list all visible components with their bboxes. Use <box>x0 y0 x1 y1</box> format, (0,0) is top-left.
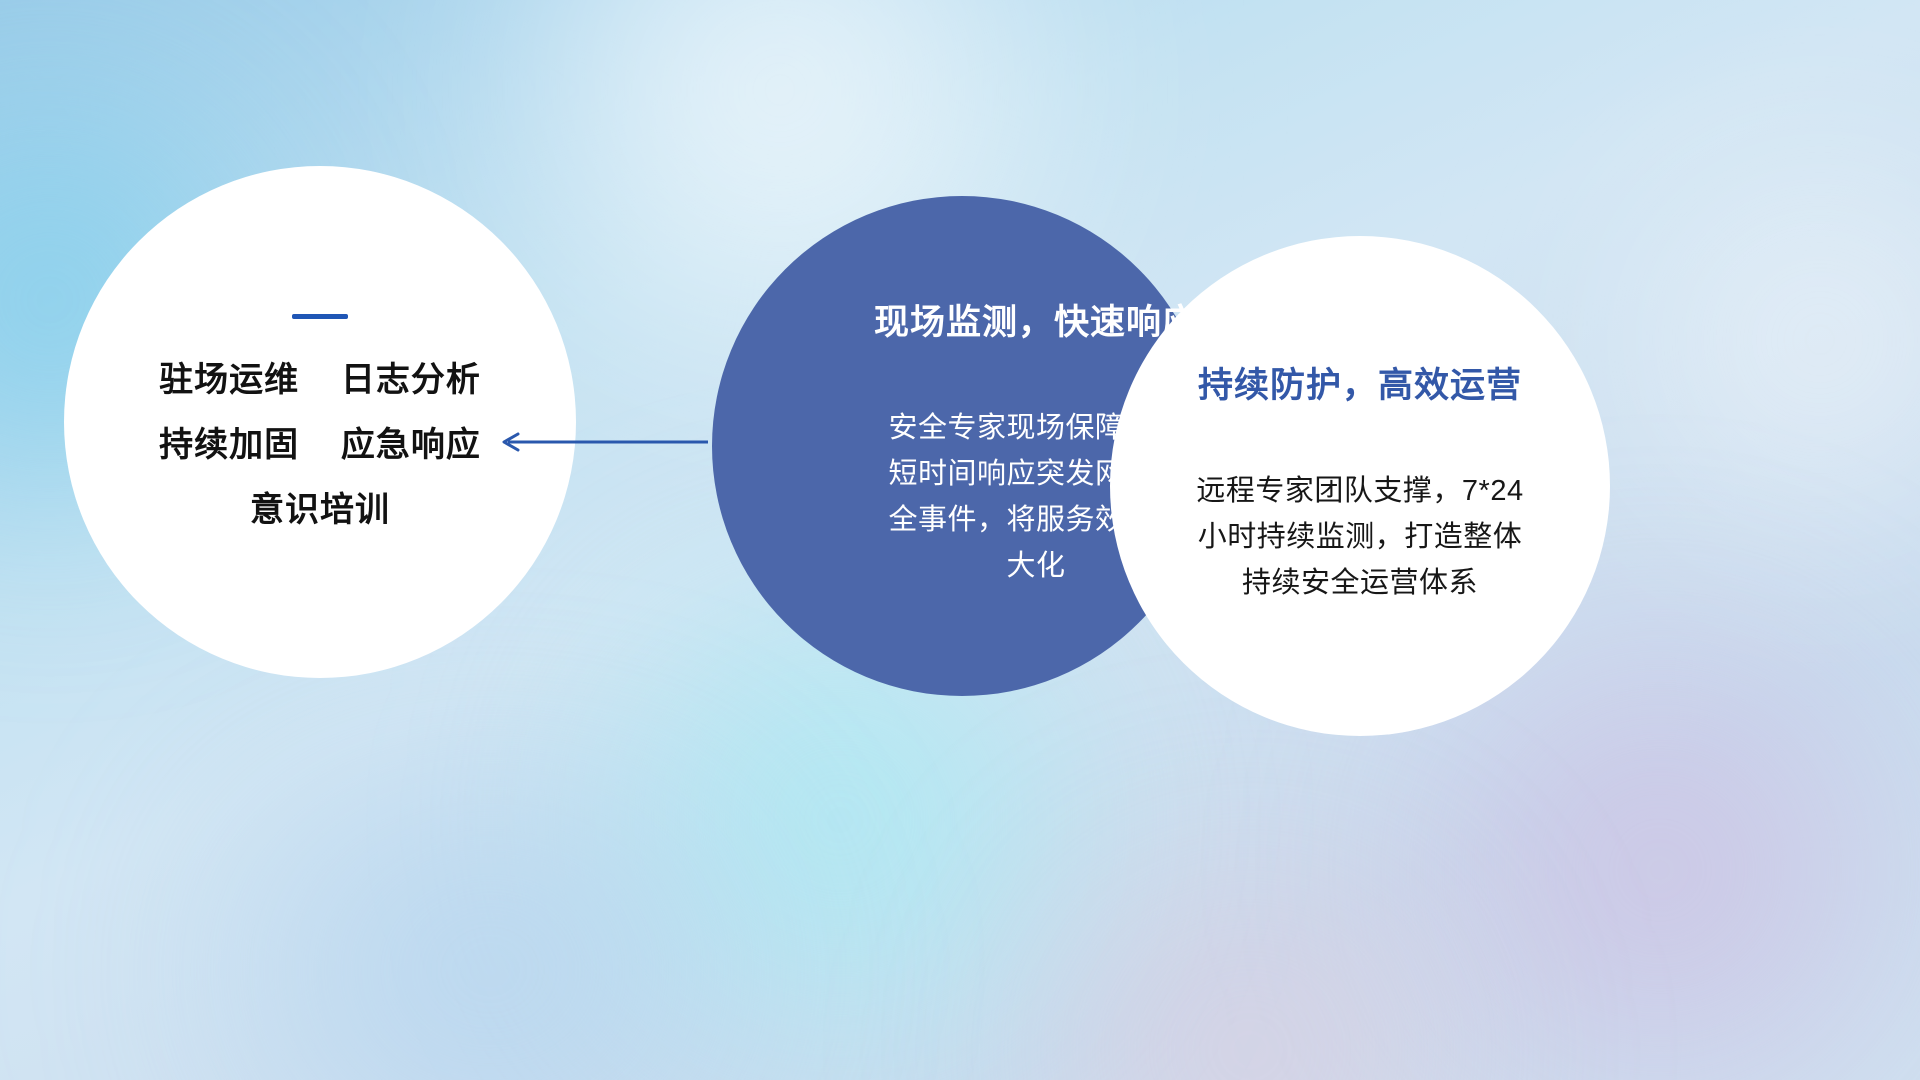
divider-dash-icon <box>292 314 348 319</box>
capabilities-list: 驻场运维 日志分析 持续加固 应急响应 意识培训 <box>159 361 481 530</box>
continuous-title: 持续防护，高效运营 <box>1198 365 1522 407</box>
background-blob-white-right <box>1560 60 1920 620</box>
capability-line: 驻场运维 日志分析 <box>159 361 481 400</box>
continuous-protection-circle: 持续防护，高效运营 远程专家团队支撑，7*24小时持续监测，打造整体持续安全运营… <box>1110 236 1610 736</box>
continuous-body: 远程专家团队支撑，7*24小时持续监测，打造整体持续安全运营体系 <box>1190 469 1530 606</box>
capabilities-circle: 驻场运维 日志分析 持续加固 应急响应 意识培训 <box>64 166 576 678</box>
capability-line: 持续加固 应急响应 <box>159 426 481 465</box>
onsite-title: 现场监测，快速响应 <box>874 302 1198 344</box>
slide-canvas: 驻场运维 日志分析 持续加固 应急响应 意识培训 现场监测，快速响应 安全专家现… <box>0 0 1920 1080</box>
capability-line: 意识培训 <box>159 491 481 530</box>
background-blob-blue-bottom <box>40 760 940 1080</box>
flow-arrow-left-icon <box>492 424 710 460</box>
background-blob-pink-bottom <box>900 820 1600 1080</box>
